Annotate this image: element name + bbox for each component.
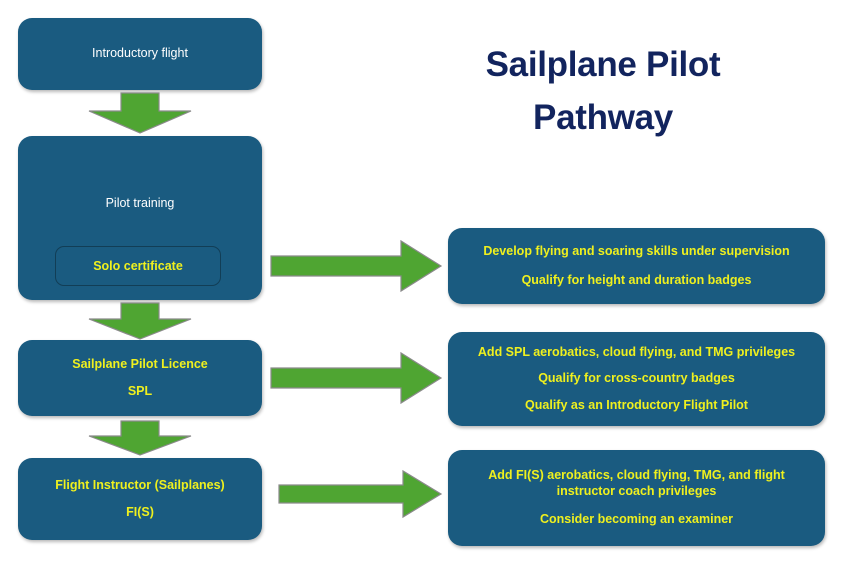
node-flight-instructor-label: Flight Instructor (Sailplanes) [28, 478, 252, 494]
outcome-line: Add SPL aerobatics, cloud flying, and TM… [458, 345, 815, 361]
arrow-right-training-outcome [270, 240, 442, 292]
outcome-line: Qualify for cross-country badges [458, 371, 815, 387]
node-sailplane-pilot-licence-abbreviation: SPL [28, 384, 252, 400]
node-introductory-flight-label: Introductory flight [28, 46, 252, 62]
title-line-1: Sailplane Pilot [408, 38, 798, 91]
node-sailplane-pilot-licence[interactable]: Sailplane Pilot Licence SPL [18, 340, 262, 416]
node-solo-certificate-label: Solo certificate [93, 259, 183, 273]
arrow-right-fis-outcome [278, 470, 442, 518]
outcome-line: instructor coach privileges [458, 484, 815, 500]
outcome-line: Qualify as an Introductory Flight Pilot [458, 398, 815, 414]
outcome-line: Add FI(S) aerobatics, cloud flying, TMG,… [458, 468, 815, 484]
node-sailplane-pilot-licence-label: Sailplane Pilot Licence [28, 357, 252, 373]
arrow-right-spl-outcome [270, 352, 442, 404]
diagram-canvas: Sailplane Pilot Pathway Introductory fli… [0, 0, 844, 578]
node-introductory-flight[interactable]: Introductory flight [18, 18, 262, 90]
arrow-down-spl-to-fis [88, 420, 192, 456]
node-flight-instructor-sailplanes[interactable]: Flight Instructor (Sailplanes) FI(S) [18, 458, 262, 540]
outcome-box-fis[interactable]: Add FI(S) aerobatics, cloud flying, TMG,… [448, 450, 825, 546]
node-pilot-training-label: Pilot training [28, 196, 252, 212]
outcome-line: Develop flying and soaring skills under … [458, 244, 815, 260]
outcome-line: Qualify for height and duration badges [458, 273, 815, 289]
arrow-down-intro-to-training [88, 92, 192, 134]
title-line-2: Pathway [408, 91, 798, 144]
page-title: Sailplane Pilot Pathway [408, 38, 798, 144]
outcome-line: Consider becoming an examiner [458, 512, 815, 528]
outcome-box-spl[interactable]: Add SPL aerobatics, cloud flying, and TM… [448, 332, 825, 426]
outcome-box-pilot-training[interactable]: Develop flying and soaring skills under … [448, 228, 825, 304]
node-flight-instructor-abbreviation: FI(S) [28, 505, 252, 521]
arrow-down-training-to-spl [88, 302, 192, 340]
node-solo-certificate[interactable]: Solo certificate [55, 246, 221, 286]
